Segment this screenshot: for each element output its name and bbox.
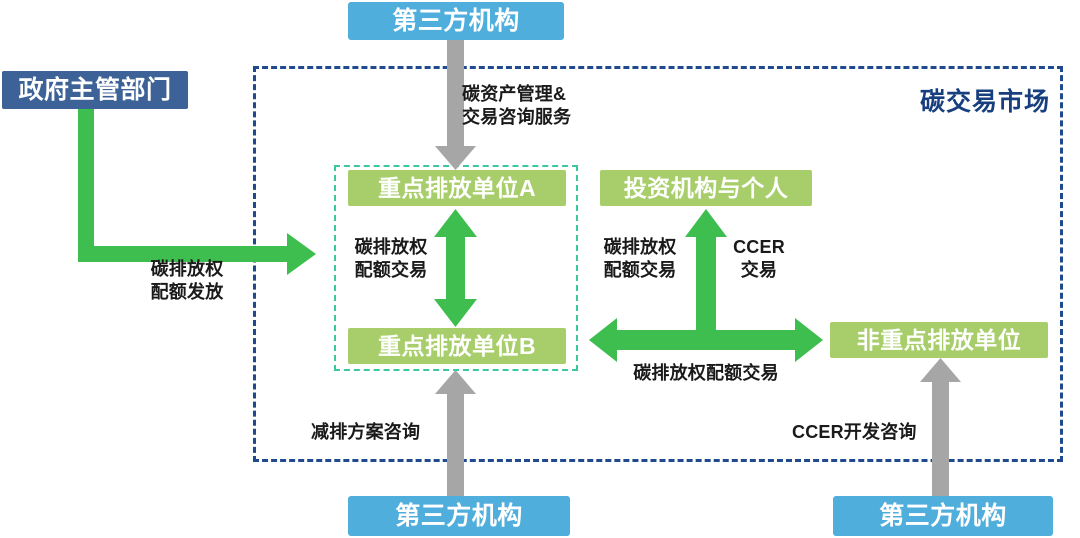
- label-ccer-trade: CCER 交易: [724, 236, 794, 282]
- carbon-market-title: 碳交易市场: [920, 82, 1050, 118]
- label-quota-allocation: 碳排放权 配额发放: [132, 258, 242, 304]
- node-non-key-emitter[interactable]: 非重点排放单位: [830, 322, 1048, 358]
- label-reduction-consulting: 减排方案咨询: [311, 421, 420, 444]
- label-quota-trade-ab: 碳排放权 配额交易: [352, 236, 430, 282]
- node-third-party-top[interactable]: 第三方机构: [348, 2, 564, 40]
- label-quota-trade-investors: 碳排放权 配额交易: [600, 236, 680, 282]
- diagram-canvas: 碳交易市场 第三方机构 政府: [0, 0, 1080, 538]
- node-government[interactable]: 政府主管部门: [2, 71, 188, 109]
- label-carbon-asset-service: 碳资产管理& 交易咨询服务: [462, 83, 571, 129]
- node-key-emitter-b[interactable]: 重点排放单位B: [348, 328, 566, 364]
- node-third-party-bottom-right[interactable]: 第三方机构: [833, 496, 1053, 536]
- label-quota-trade-horizontal: 碳排放权配额交易: [617, 362, 795, 385]
- node-third-party-bottom-left[interactable]: 第三方机构: [348, 496, 570, 536]
- node-key-emitter-a[interactable]: 重点排放单位A: [348, 170, 566, 206]
- node-investors[interactable]: 投资机构与个人: [600, 170, 812, 206]
- label-ccer-development-consulting: CCER开发咨询: [792, 421, 917, 444]
